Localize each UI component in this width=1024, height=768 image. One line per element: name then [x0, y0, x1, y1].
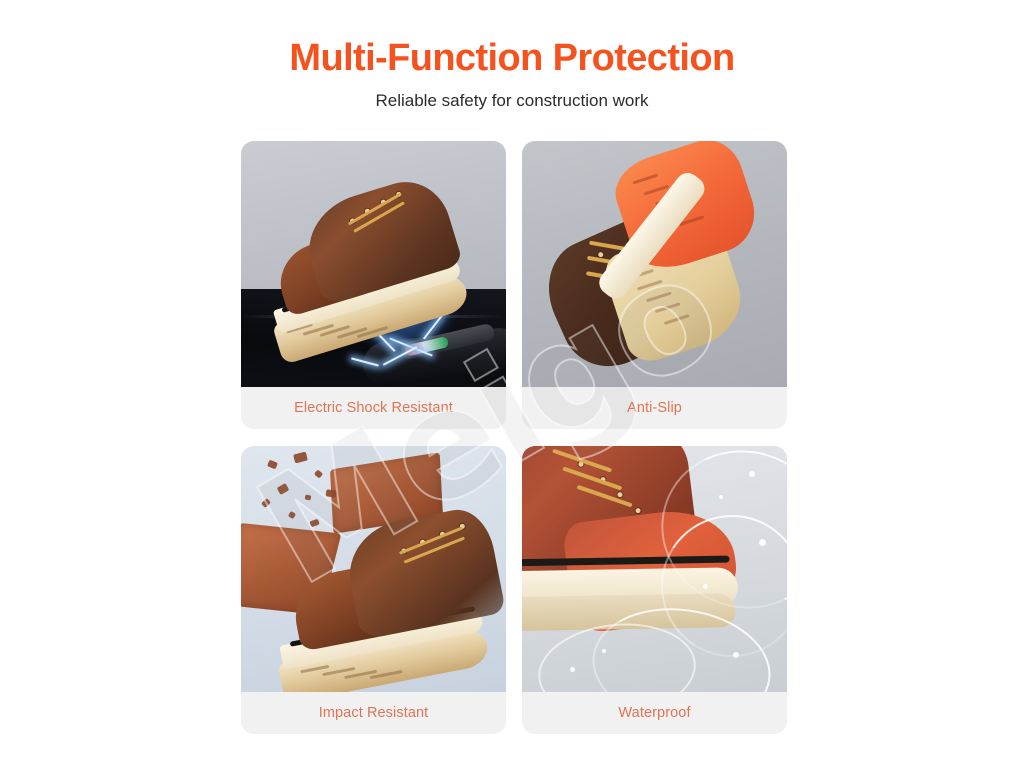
boot-illustration — [241, 490, 506, 692]
page-subtitle: Reliable safety for construction work — [0, 91, 1024, 111]
feature-grid: Electric Shock Resistant — [241, 141, 787, 734]
feature-card-impact-resistant[interactable]: Impact Resistant — [241, 446, 506, 734]
feature-image-anti-slip — [522, 141, 787, 387]
product-feature-page: Multi-Function Protection Reliable safet… — [0, 0, 1024, 768]
feature-card-electric-shock-resistant[interactable]: Electric Shock Resistant — [241, 141, 506, 429]
boot-illustration — [522, 141, 787, 387]
feature-label-anti-slip: Anti-Slip — [522, 387, 787, 429]
feature-card-anti-slip[interactable]: Anti-Slip — [522, 141, 787, 429]
feature-label-electric-shock-resistant: Electric Shock Resistant — [241, 387, 506, 429]
feature-image-waterproof — [522, 446, 787, 692]
feature-label-waterproof: Waterproof — [522, 692, 787, 734]
feature-image-impact-resistant — [241, 446, 506, 692]
feature-label-impact-resistant: Impact Resistant — [241, 692, 506, 734]
feature-image-electric-shock-resistant — [241, 141, 506, 387]
page-title: Multi-Function Protection — [0, 38, 1024, 79]
feature-card-waterproof[interactable]: Waterproof — [522, 446, 787, 734]
page-header: Multi-Function Protection Reliable safet… — [0, 38, 1024, 111]
